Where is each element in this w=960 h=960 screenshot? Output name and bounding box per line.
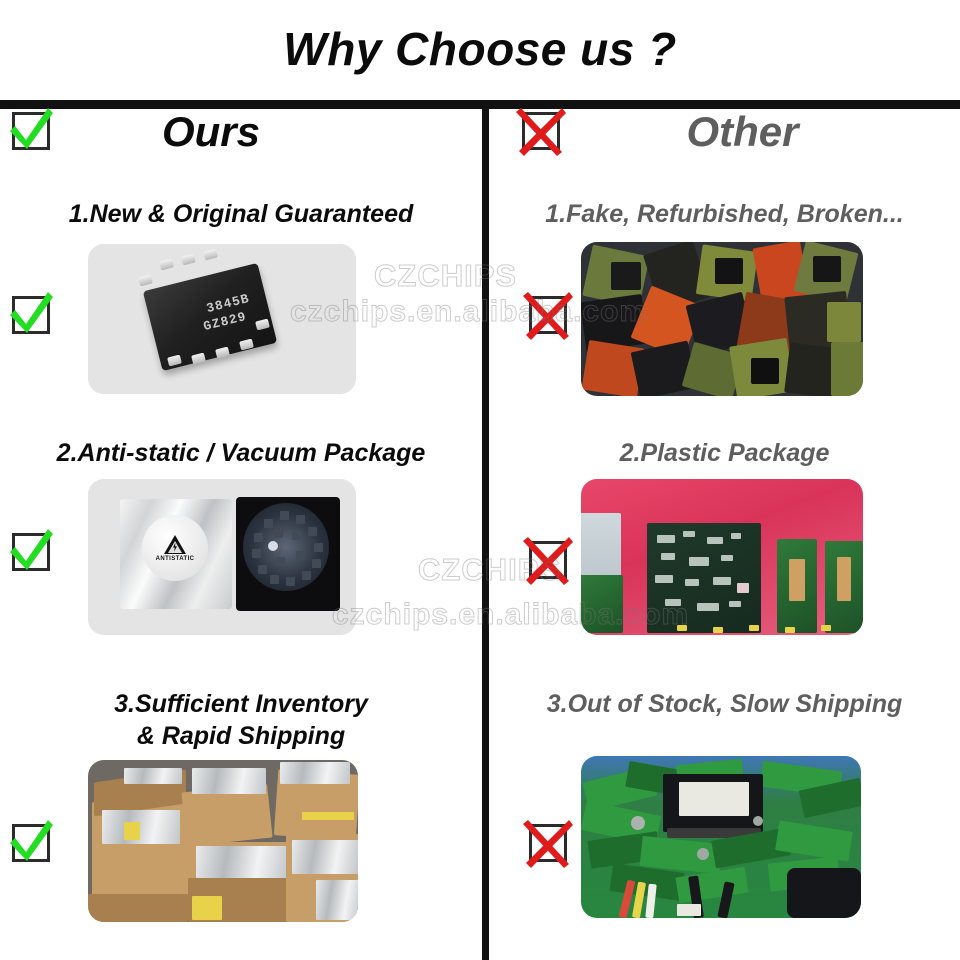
check-mark-icon bbox=[4, 104, 56, 156]
row-2-ours-photo: ANTISTATIC bbox=[88, 479, 356, 635]
antistatic-label: ANTISTATIC bbox=[156, 556, 195, 562]
cross-mark-icon bbox=[521, 533, 573, 585]
column-header-ours: Ours bbox=[0, 110, 482, 168]
check-mark-icon bbox=[4, 816, 56, 868]
row-2-other-caption: 2.Plastic Package bbox=[489, 437, 960, 469]
comparison-row-1: 1.New & Original Guaranteed 3845B GZ829 bbox=[0, 198, 960, 420]
row-1-ours-caption: 1.New & Original Guaranteed bbox=[0, 198, 482, 230]
page-title: Why Choose us ? bbox=[0, 22, 960, 76]
row-1-other-photo bbox=[581, 242, 863, 396]
comparison-row-3: 3.Sufficient Inventory & Rapid Shipping bbox=[0, 688, 960, 950]
row-3-ours-caption: 3.Sufficient Inventory & Rapid Shipping bbox=[0, 688, 482, 752]
row-3-other-photo bbox=[581, 756, 861, 918]
row-3-ours-photo bbox=[88, 760, 358, 922]
antistatic-disc: ANTISTATIC bbox=[142, 515, 208, 581]
why-choose-us-comparison-banner: Why Choose us ? Ours Other 1.New & Origi… bbox=[0, 0, 960, 960]
column-header-other-label: Other bbox=[507, 108, 960, 156]
row-3-other-caption: 3.Out of Stock, Slow Shipping bbox=[489, 688, 960, 720]
cross-mark-icon bbox=[514, 104, 566, 156]
check-mark-icon bbox=[4, 288, 56, 340]
cross-mark-icon bbox=[521, 816, 573, 868]
row-2-other-photo bbox=[581, 479, 863, 635]
check-mark-icon bbox=[4, 525, 56, 577]
row-1-other-caption: 1.Fake, Refurbished, Broken... bbox=[489, 198, 960, 230]
row-1-ours-photo: 3845B GZ829 bbox=[88, 244, 356, 394]
row-2-ours-caption: 2.Anti-static / Vacuum Package bbox=[0, 437, 482, 469]
column-header-ours-label: Ours bbox=[0, 108, 452, 156]
cross-mark-icon bbox=[521, 288, 573, 340]
comparison-row-2: 2.Anti-static / Vacuum Package ANTISTATI… bbox=[0, 437, 960, 659]
